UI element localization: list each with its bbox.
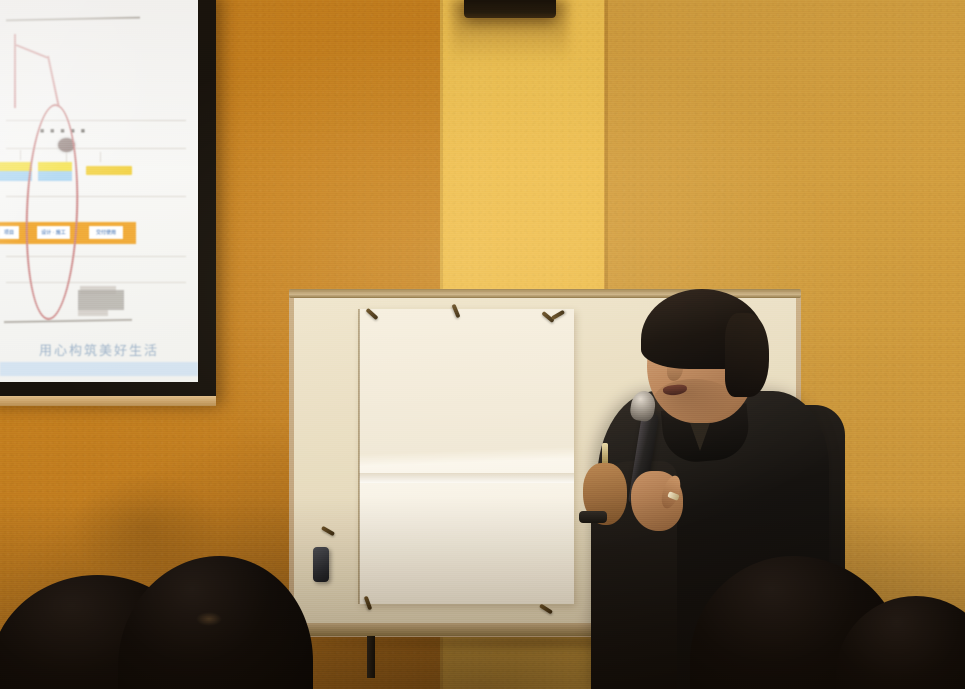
slide-top-rule bbox=[6, 17, 140, 22]
projection-screen-frame: ■ ■ ■ ■ ■ 项目 设计 · bbox=[0, 0, 216, 400]
slide-connector-1 bbox=[20, 150, 21, 160]
slide-gray-block-foot bbox=[78, 310, 108, 316]
projection-screen-surface: ■ ■ ■ ■ ■ 项目 设计 · bbox=[0, 0, 198, 382]
slide-footer-text: 用心构筑美好生活 bbox=[0, 340, 198, 359]
slide-connector-3 bbox=[100, 152, 101, 162]
flipchart-paper-edge bbox=[358, 309, 360, 604]
ceiling-speaker bbox=[464, 0, 556, 18]
audience-head-highlight bbox=[196, 612, 222, 626]
slide-annotation-diagonal-1 bbox=[16, 44, 48, 59]
slide-content: ■ ■ ■ ■ ■ 项目 设计 · bbox=[0, 0, 198, 382]
slide-footer-band bbox=[0, 362, 198, 376]
slide-chip-1: 项目 bbox=[0, 225, 20, 240]
photo-scene: ■ ■ ■ ■ ■ 项目 设计 · bbox=[0, 0, 965, 689]
presenter-watch bbox=[579, 511, 607, 523]
projection-screen-trim bbox=[0, 396, 216, 406]
slide-band-yellow-1 bbox=[0, 162, 32, 171]
marker-pen bbox=[602, 443, 608, 465]
slide-chip-3: 交付使用 bbox=[88, 225, 124, 240]
whiteboard-stand-leg bbox=[367, 636, 375, 678]
slide-annotation-ellipse bbox=[22, 103, 82, 321]
slide-gray-block bbox=[78, 290, 124, 310]
whiteboard-eraser bbox=[313, 547, 329, 582]
slide-annotation-diagonal-2 bbox=[47, 56, 60, 107]
slide-band-amber bbox=[86, 166, 132, 175]
slide-bottom-rule bbox=[4, 319, 132, 323]
slide-faint-rule-1 bbox=[6, 120, 186, 121]
presenter-hair-side bbox=[725, 313, 769, 397]
flipchart-paper bbox=[359, 309, 574, 604]
flipchart-paper-fold bbox=[359, 473, 574, 483]
